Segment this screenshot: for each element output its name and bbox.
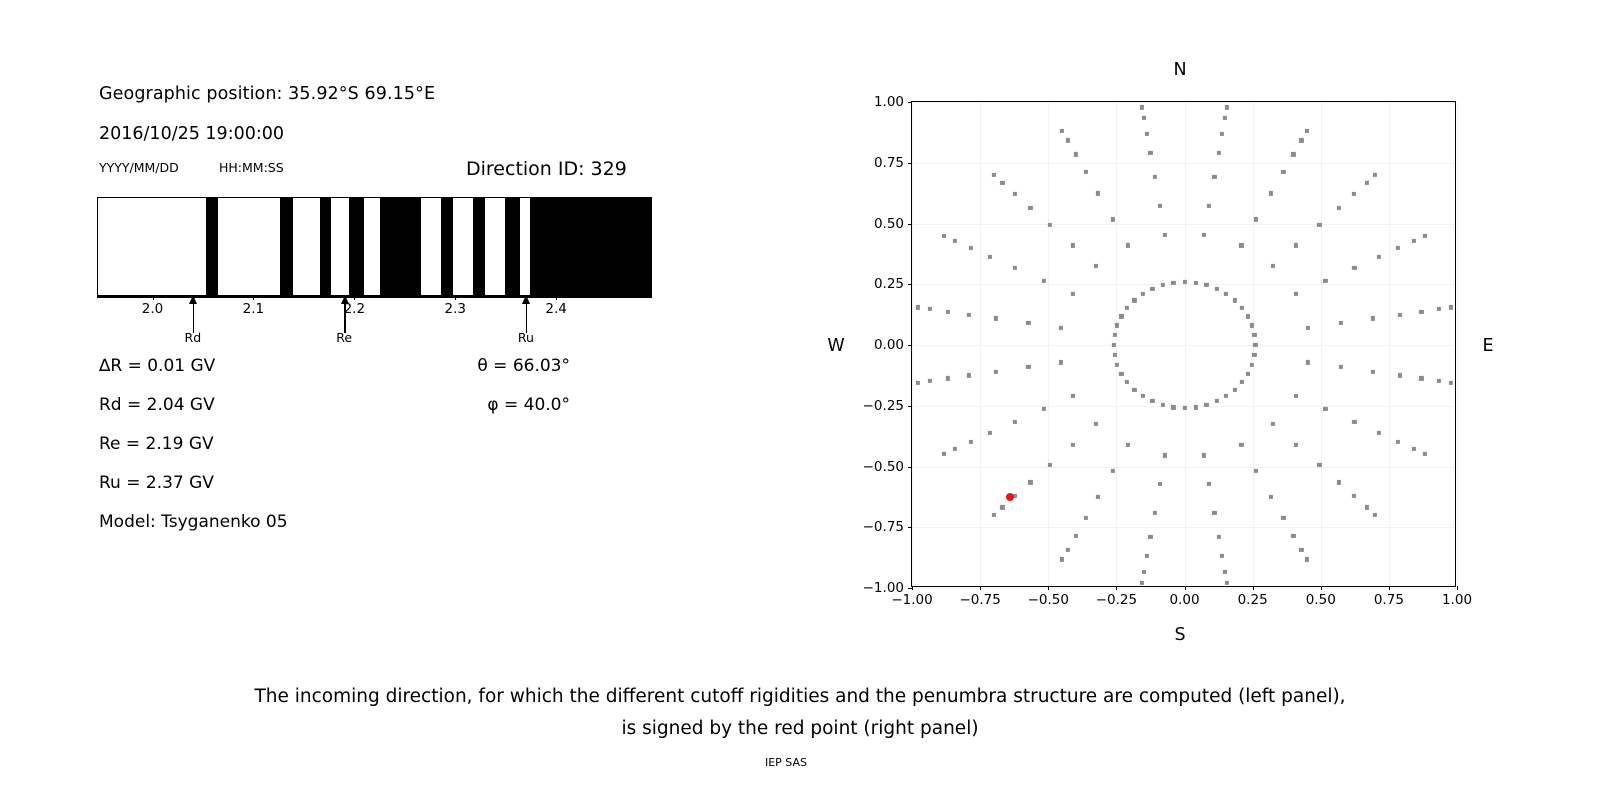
- selected-direction-marker[interactable]: [1006, 493, 1014, 501]
- sky-direction-point: [1150, 399, 1154, 403]
- compass-label-south: S: [1174, 625, 1185, 645]
- sky-direction-point: [1028, 480, 1032, 484]
- gridline-horizontal: [912, 102, 1455, 103]
- sky-direction-point: [1153, 511, 1157, 515]
- sky-direction-point: [1323, 279, 1327, 283]
- sky-direction-point: [969, 440, 973, 444]
- sky-direction-point: [1317, 223, 1321, 227]
- sky-direction-point: [1412, 239, 1416, 243]
- sky-direction-point: [1059, 360, 1063, 364]
- sky-direction-point: [1419, 376, 1423, 380]
- sky-direction-point: [1171, 405, 1175, 409]
- sky-direction-point: [1065, 548, 1069, 552]
- penumbra-axis-tick: [153, 296, 154, 300]
- sky-direction-plot: −1.00−0.75−0.50−0.250.000.250.500.751.00…: [911, 101, 1456, 587]
- sky-direction-point: [1377, 255, 1381, 259]
- sky-direction-point: [1204, 283, 1208, 287]
- rigidity-marker-label: Re: [336, 330, 352, 345]
- sky-direction-point: [1377, 431, 1381, 435]
- x-axis-tick-label: 0.50: [1306, 592, 1336, 608]
- sky-direction-point: [946, 376, 950, 380]
- sky-direction-point: [946, 309, 950, 313]
- caption-line-2: is signed by the red point (right panel): [621, 718, 978, 739]
- sky-direction-point: [928, 379, 932, 383]
- datetime-label: 2016/10/25 19:00:00: [99, 124, 284, 144]
- penumbra-axis-tick: [455, 296, 456, 300]
- sky-direction-point: [1250, 362, 1254, 366]
- sky-direction-point: [1207, 204, 1211, 208]
- sky-direction-point: [1142, 116, 1146, 120]
- sky-direction-point: [1217, 151, 1221, 155]
- sky-direction-point: [1148, 151, 1152, 155]
- sky-direction-point: [1096, 191, 1100, 195]
- value-delta-r: ∆R = 0.01 GV: [99, 356, 215, 376]
- x-axis-tick-label: 0.25: [1238, 592, 1268, 608]
- sky-direction-point: [1071, 443, 1075, 447]
- sky-direction-point: [1398, 373, 1402, 377]
- sky-direction-point: [1339, 321, 1343, 325]
- sky-direction-point: [1141, 292, 1145, 296]
- sky-direction-point: [1423, 234, 1427, 238]
- sky-direction-point: [1294, 292, 1298, 296]
- compass-label-north: N: [1173, 60, 1186, 80]
- penumbra-axis-tick: [556, 296, 557, 300]
- sky-direction-point: [1119, 314, 1123, 318]
- sky-direction-point: [1161, 403, 1165, 407]
- sky-direction-point: [1299, 548, 1303, 552]
- sky-direction-point: [1028, 205, 1032, 209]
- gridline-horizontal: [912, 163, 1455, 164]
- penumbra-forbidden-band: [320, 198, 331, 295]
- penumbra-axis-tick-label: 2.1: [243, 301, 264, 317]
- sky-direction-point: [1271, 264, 1275, 268]
- sky-direction-point: [1449, 305, 1453, 309]
- sky-direction-point: [1323, 407, 1327, 411]
- sky-direction-point: [1112, 353, 1116, 357]
- sky-direction-point: [1059, 325, 1063, 329]
- sky-direction-point: [1141, 394, 1145, 398]
- x-axis-tick-label: −1.00: [891, 592, 932, 608]
- sky-direction-point: [1294, 394, 1298, 398]
- sky-direction-point: [1111, 217, 1115, 221]
- sky-direction-point: [1125, 306, 1129, 310]
- sky-direction-point: [1271, 422, 1275, 426]
- sky-direction-point: [1254, 468, 1258, 472]
- y-axis-tick: [908, 224, 912, 225]
- sky-direction-point: [1373, 173, 1377, 177]
- penumbra-axis-tick-label: 2.4: [545, 301, 566, 317]
- sky-direction-point: [1419, 309, 1423, 313]
- sky-direction-point: [1373, 513, 1377, 517]
- sky-direction-point: [1223, 570, 1227, 574]
- sky-direction-point: [1294, 443, 1298, 447]
- sky-direction-point: [1412, 447, 1416, 451]
- compass-label-east: E: [1482, 336, 1493, 356]
- sky-direction-point: [1112, 333, 1116, 337]
- sky-direction-point: [1115, 362, 1119, 366]
- sky-direction-point: [1048, 463, 1052, 467]
- sky-direction-point: [916, 381, 920, 385]
- x-axis-tick: [1116, 586, 1117, 590]
- x-axis-tick: [1048, 586, 1049, 590]
- sky-direction-point: [1125, 380, 1129, 384]
- y-axis-tick: [908, 284, 912, 285]
- value-re: Re = 2.19 GV: [99, 434, 214, 454]
- sky-direction-point: [1074, 533, 1078, 537]
- arrow-shaft: [193, 299, 195, 333]
- sky-direction-point: [1112, 343, 1116, 347]
- sky-direction-point: [1060, 557, 1064, 561]
- sky-direction-point: [953, 239, 957, 243]
- sky-direction-point: [1371, 316, 1375, 320]
- sky-direction-point: [1202, 233, 1206, 237]
- sky-direction-point: [1163, 233, 1167, 237]
- value-ru: Ru = 2.37 GV: [99, 473, 214, 493]
- sky-direction-point: [928, 307, 932, 311]
- sky-direction-point: [1239, 243, 1243, 247]
- sky-direction-point: [1423, 452, 1427, 456]
- sky-direction-point: [1269, 494, 1273, 498]
- penumbra-forbidden-band: [380, 198, 421, 295]
- compass-label-west: W: [827, 336, 844, 356]
- sky-direction-point: [1337, 205, 1341, 209]
- value-phi: φ = 40.0°: [487, 395, 570, 415]
- sky-direction-point: [1217, 535, 1221, 539]
- sky-direction-point: [1207, 482, 1211, 486]
- sky-direction-point: [1026, 365, 1030, 369]
- gridline-horizontal: [912, 467, 1455, 468]
- value-rd: Rd = 2.04 GV: [99, 395, 215, 415]
- x-axis-tick-label: −0.75: [959, 592, 1000, 608]
- arrow-shaft: [526, 299, 528, 333]
- penumbra-forbidden-band: [206, 198, 218, 295]
- rigidity-marker-label: Ru: [518, 330, 534, 345]
- y-axis-tick: [908, 406, 912, 407]
- sky-direction-point: [916, 305, 920, 309]
- sky-direction-point: [1071, 292, 1075, 296]
- sky-direction-point: [1220, 554, 1224, 558]
- arrow-head-icon: [522, 295, 530, 304]
- y-axis-tick: [908, 467, 912, 468]
- sky-direction-point: [1142, 570, 1146, 574]
- sky-direction-point: [1161, 283, 1165, 287]
- sky-direction-point: [1125, 243, 1129, 247]
- sky-direction-point: [1352, 420, 1356, 424]
- gridline-vertical: [912, 102, 913, 586]
- arrow-shaft: [344, 299, 346, 333]
- sky-direction-point: [1163, 453, 1167, 457]
- sky-direction-point: [1153, 175, 1157, 179]
- y-axis-tick-label: 0.25: [874, 276, 904, 292]
- sky-direction-point: [988, 431, 992, 435]
- sky-direction-point: [1352, 266, 1356, 270]
- sky-direction-point: [1233, 388, 1237, 392]
- y-axis-tick-label: −0.50: [863, 459, 904, 475]
- sky-direction-point: [1246, 314, 1250, 318]
- sky-direction-point: [1013, 192, 1017, 196]
- gridline-vertical: [1389, 102, 1390, 586]
- sky-direction-point: [1396, 246, 1400, 250]
- sky-direction-point: [1352, 192, 1356, 196]
- sky-direction-point: [1291, 152, 1295, 156]
- gridline-vertical: [1457, 102, 1458, 586]
- y-axis-tick: [908, 163, 912, 164]
- sky-direction-point: [969, 246, 973, 250]
- sky-direction-point: [1250, 323, 1254, 327]
- sky-direction-point: [1246, 372, 1250, 376]
- sky-direction-point: [1083, 170, 1087, 174]
- sky-direction-point: [1158, 204, 1162, 208]
- sky-direction-point: [1042, 407, 1046, 411]
- x-axis-tick: [912, 586, 913, 590]
- arrow-head-icon: [341, 295, 349, 304]
- sky-direction-point: [1060, 129, 1064, 133]
- sky-direction-point: [1225, 105, 1229, 109]
- gridline-vertical: [980, 102, 981, 586]
- geographic-position-label: Geographic position: 35.92°S 69.15°E: [99, 84, 435, 104]
- footer-credit: IEP SAS: [765, 756, 807, 769]
- sky-direction-point: [1240, 380, 1244, 384]
- gridline-horizontal: [912, 284, 1455, 285]
- gridline-horizontal: [912, 345, 1455, 346]
- penumbra-forbidden-band: [441, 198, 453, 295]
- y-axis-tick-label: 0.50: [874, 216, 904, 232]
- y-axis-tick: [908, 345, 912, 346]
- sky-direction-point: [1012, 266, 1016, 270]
- y-axis-tick: [908, 102, 912, 103]
- sky-direction-point: [994, 370, 998, 374]
- x-axis-tick-label: 1.00: [1442, 592, 1472, 608]
- x-axis-tick: [1321, 586, 1322, 590]
- sky-direction-point: [1364, 181, 1368, 185]
- sky-direction-point: [1281, 516, 1285, 520]
- sky-direction-point: [1202, 453, 1206, 457]
- time-format-hint: HH:MM:SS: [219, 160, 284, 175]
- sky-direction-point: [1215, 287, 1219, 291]
- gridline-vertical: [1185, 102, 1186, 586]
- caption-line-1: The incoming direction, for which the di…: [254, 686, 1345, 707]
- sky-direction-point: [1158, 482, 1162, 486]
- x-axis-tick: [1253, 586, 1254, 590]
- sky-direction-point: [1281, 170, 1285, 174]
- sky-direction-point: [1252, 353, 1256, 357]
- sky-direction-point: [967, 312, 971, 316]
- y-axis-tick-label: −0.25: [863, 398, 904, 414]
- gridline-vertical: [1048, 102, 1049, 586]
- sky-direction-point: [1140, 581, 1144, 585]
- x-axis-tick: [1389, 586, 1390, 590]
- sky-direction-point: [1000, 181, 1004, 185]
- sky-direction-point: [1012, 420, 1016, 424]
- sky-direction-point: [1233, 298, 1237, 302]
- sky-direction-point: [1182, 406, 1186, 410]
- penumbra-forbidden-band: [349, 198, 364, 295]
- sky-direction-point: [994, 316, 998, 320]
- sky-direction-point: [1212, 511, 1216, 515]
- sky-direction-point: [1119, 372, 1123, 376]
- sky-direction-point: [1339, 365, 1343, 369]
- sky-direction-point: [1294, 243, 1298, 247]
- sky-direction-point: [1449, 381, 1453, 385]
- date-format-hint: YYYY/MM/DD: [99, 160, 179, 175]
- x-axis-tick-label: −0.25: [1096, 592, 1137, 608]
- sky-direction-point: [1224, 292, 1228, 296]
- sky-direction-point: [1337, 480, 1341, 484]
- x-axis-tick-label: 0.75: [1374, 592, 1404, 608]
- sky-direction-point: [1204, 403, 1208, 407]
- sky-direction-point: [1299, 138, 1303, 142]
- gridline-vertical: [1116, 102, 1117, 586]
- sky-direction-point: [1115, 323, 1119, 327]
- penumbra-axis-tick: [354, 296, 355, 300]
- rigidity-marker-label: Rd: [185, 330, 202, 345]
- x-axis-tick: [1185, 586, 1186, 590]
- sky-direction-point: [1000, 505, 1004, 509]
- penumbra-axis-tick: [253, 296, 254, 300]
- sky-direction-point: [1396, 440, 1400, 444]
- sky-direction-point: [1182, 280, 1186, 284]
- sky-direction-point: [1094, 422, 1098, 426]
- sky-direction-point: [1094, 264, 1098, 268]
- sky-direction-point: [1437, 379, 1441, 383]
- sky-direction-point: [1437, 307, 1441, 311]
- sky-direction-point: [1042, 279, 1046, 283]
- sky-direction-point: [1224, 394, 1228, 398]
- sky-direction-point: [1083, 516, 1087, 520]
- penumbra-axis-tick-label: 2.3: [444, 301, 465, 317]
- y-axis-tick: [908, 527, 912, 528]
- sky-direction-point: [1026, 321, 1030, 325]
- sky-direction-point: [1145, 554, 1149, 558]
- sky-direction-point: [1269, 191, 1273, 195]
- gridline-vertical: [1321, 102, 1322, 586]
- sky-direction-point: [1148, 535, 1152, 539]
- direction-id-label: Direction ID: 329: [466, 158, 627, 180]
- sky-direction-point: [1240, 306, 1244, 310]
- arrow-head-icon: [189, 295, 197, 304]
- penumbra-spectrum-bar: [97, 197, 652, 296]
- value-theta: θ = 66.03°: [477, 356, 570, 376]
- sky-direction-point: [1225, 581, 1229, 585]
- sky-direction-point: [1305, 557, 1309, 561]
- sky-direction-point: [1071, 394, 1075, 398]
- sky-direction-point: [1253, 343, 1257, 347]
- left-panel: Geographic position: 35.92°S 69.15°E 201…: [0, 0, 700, 660]
- sky-direction-point: [1071, 243, 1075, 247]
- sky-direction-point: [1150, 287, 1154, 291]
- sky-direction-point: [1239, 443, 1243, 447]
- x-axis-tick-label: −0.50: [1028, 592, 1069, 608]
- sky-direction-point: [1132, 298, 1136, 302]
- sky-direction-point: [1111, 468, 1115, 472]
- sky-direction-point: [1132, 388, 1136, 392]
- sky-direction-point: [1254, 217, 1258, 221]
- sky-direction-point: [1306, 325, 1310, 329]
- sky-direction-point: [1364, 505, 1368, 509]
- y-axis-tick-label: 0.75: [874, 155, 904, 171]
- penumbra-forbidden-band: [280, 198, 293, 295]
- sky-direction-point: [942, 234, 946, 238]
- sky-direction-point: [1074, 152, 1078, 156]
- sky-direction-point: [992, 513, 996, 517]
- sky-direction-point: [1215, 399, 1219, 403]
- penumbra-forbidden-band: [530, 198, 652, 295]
- sky-direction-point: [1371, 370, 1375, 374]
- gridline-horizontal: [912, 588, 1455, 589]
- sky-direction-point: [1317, 463, 1321, 467]
- penumbra-forbidden-band: [473, 198, 485, 295]
- sky-direction-point: [992, 173, 996, 177]
- value-model: Model: Tsyganenko 05: [99, 512, 288, 532]
- sky-direction-point: [1096, 494, 1100, 498]
- y-axis-tick-label: 0.00: [874, 337, 904, 353]
- sky-direction-point: [1220, 132, 1224, 136]
- penumbra-axis-tick-label: 2.0: [142, 301, 163, 317]
- penumbra-forbidden-band: [505, 198, 520, 295]
- penumbra-axis: [97, 296, 652, 298]
- sky-direction-point: [1398, 312, 1402, 316]
- sky-direction-point: [1125, 443, 1129, 447]
- sky-direction-point: [1145, 132, 1149, 136]
- sky-direction-point: [988, 255, 992, 259]
- sky-direction-point: [1305, 129, 1309, 133]
- sky-direction-point: [1193, 405, 1197, 409]
- sky-direction-point: [1171, 281, 1175, 285]
- sky-direction-point: [1048, 223, 1052, 227]
- y-axis-tick-label: 1.00: [874, 94, 904, 110]
- sky-direction-point: [1252, 333, 1256, 337]
- gridline-horizontal: [912, 527, 1455, 528]
- sky-direction-point: [1223, 116, 1227, 120]
- x-axis-tick: [980, 586, 981, 590]
- sky-direction-point: [1306, 360, 1310, 364]
- sky-direction-point: [1140, 105, 1144, 109]
- gridline-horizontal: [912, 224, 1455, 225]
- sky-direction-point: [1065, 138, 1069, 142]
- sky-direction-point: [1193, 281, 1197, 285]
- sky-direction-point: [953, 447, 957, 451]
- y-axis-tick-label: −0.75: [863, 519, 904, 535]
- sky-direction-point: [1291, 533, 1295, 537]
- sky-direction-point: [1352, 494, 1356, 498]
- sky-direction-point: [942, 452, 946, 456]
- sky-direction-point: [1212, 175, 1216, 179]
- sky-direction-point: [967, 373, 971, 377]
- x-axis-tick-label: 0.00: [1169, 592, 1199, 608]
- x-axis-tick: [1457, 586, 1458, 590]
